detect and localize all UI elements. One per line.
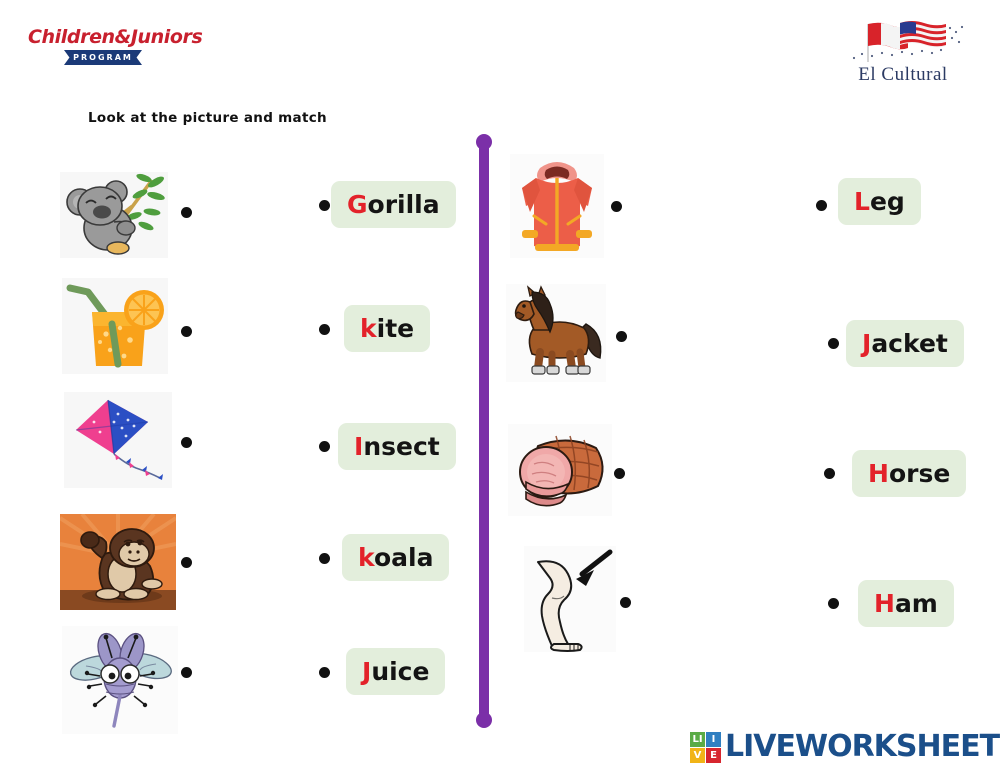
word-card-gorilla[interactable]: Gorilla	[331, 181, 456, 228]
match-dot-word-leg[interactable]	[816, 200, 827, 211]
match-dot-word-koala[interactable]	[319, 553, 330, 564]
ham-icon[interactable]	[508, 424, 612, 516]
koala-icon[interactable]	[60, 172, 168, 258]
program-ribbon: PROGRAM	[64, 50, 142, 65]
word-card-jacket[interactable]: Jacket	[846, 320, 964, 367]
divider-top-cap	[476, 134, 492, 150]
match-dot-picture-gorilla[interactable]	[181, 557, 192, 568]
usa-flag	[900, 21, 946, 47]
children-and-juniors-logo: Children&Juniors PROGRAM	[28, 28, 178, 78]
match-dot-picture-ham[interactable]	[614, 468, 625, 479]
word-rest: nsect	[363, 432, 439, 461]
divider-bottom-cap	[476, 712, 492, 728]
word-card-koala[interactable]: koala	[342, 534, 449, 581]
flags-graphic	[828, 18, 978, 62]
el-cultural-name: El Cultural	[828, 64, 978, 86]
instruction-text: Look at the picture and match	[88, 110, 327, 126]
match-dot-picture-jacket[interactable]	[611, 201, 622, 212]
word-initial: I	[354, 432, 363, 461]
tile-li: LI	[690, 732, 705, 747]
word-card-insect[interactable]: Insect	[338, 423, 456, 470]
liveworksheets-wordmark: LIVEWORKSHEETS	[725, 732, 1000, 762]
match-dot-picture-kite[interactable]	[181, 437, 192, 448]
jacket-icon[interactable]	[510, 154, 604, 258]
kite-icon[interactable]	[64, 392, 172, 488]
juice-icon[interactable]	[62, 278, 168, 374]
word-card-leg[interactable]: Leg	[838, 178, 921, 225]
match-dot-picture-leg[interactable]	[620, 597, 631, 608]
liveworksheets-logo[interactable]: LI I V E LIVEWORKSHEETS	[690, 730, 1000, 764]
match-dot-picture-koala[interactable]	[181, 207, 192, 218]
match-dot-picture-juice[interactable]	[181, 326, 192, 337]
word-initial: k	[358, 543, 374, 572]
tile-e: E	[706, 748, 721, 763]
match-dot-word-ham[interactable]	[828, 598, 839, 609]
match-dot-word-horse[interactable]	[824, 468, 835, 479]
word-rest: orilla	[368, 190, 440, 219]
word-rest: eg	[870, 187, 905, 216]
tile-i: I	[706, 732, 721, 747]
word-card-kite[interactable]: kite	[344, 305, 430, 352]
el-cultural-logo: El Cultural	[828, 18, 978, 98]
word-card-ham[interactable]: Ham	[858, 580, 954, 627]
word-rest: orse	[889, 459, 950, 488]
liveworksheets-tiles: LI I V E	[690, 732, 721, 763]
word-initial: H	[874, 589, 895, 618]
match-dot-word-kite[interactable]	[319, 324, 330, 335]
word-initial: G	[347, 190, 368, 219]
horse-icon[interactable]	[506, 284, 606, 382]
match-dot-word-insect[interactable]	[319, 441, 330, 452]
leg-icon[interactable]	[524, 546, 616, 652]
word-rest: uice	[371, 657, 429, 686]
word-rest: am	[895, 589, 938, 618]
word-initial: L	[854, 187, 870, 216]
match-dot-picture-insect[interactable]	[181, 667, 192, 678]
word-initial: H	[868, 459, 889, 488]
vertical-purple-divider	[479, 138, 489, 724]
match-dot-picture-horse[interactable]	[616, 331, 627, 342]
word-card-juice[interactable]: Juice	[346, 648, 445, 695]
word-rest: ite	[377, 314, 414, 343]
word-rest: acket	[871, 329, 948, 358]
word-card-horse[interactable]: Horse	[852, 450, 966, 497]
tile-v: V	[690, 748, 705, 763]
match-dot-word-jacket[interactable]	[828, 338, 839, 349]
word-initial: k	[360, 314, 377, 343]
match-dot-word-gorilla[interactable]	[319, 200, 330, 211]
word-rest: oala	[374, 543, 434, 572]
word-initial: J	[862, 329, 871, 358]
insect-icon[interactable]	[62, 626, 178, 734]
match-dot-word-juice[interactable]	[319, 667, 330, 678]
word-initial: J	[362, 657, 371, 686]
gorilla-icon[interactable]	[60, 514, 176, 610]
children-and-juniors-wordmark: Children&Juniors	[28, 28, 178, 47]
